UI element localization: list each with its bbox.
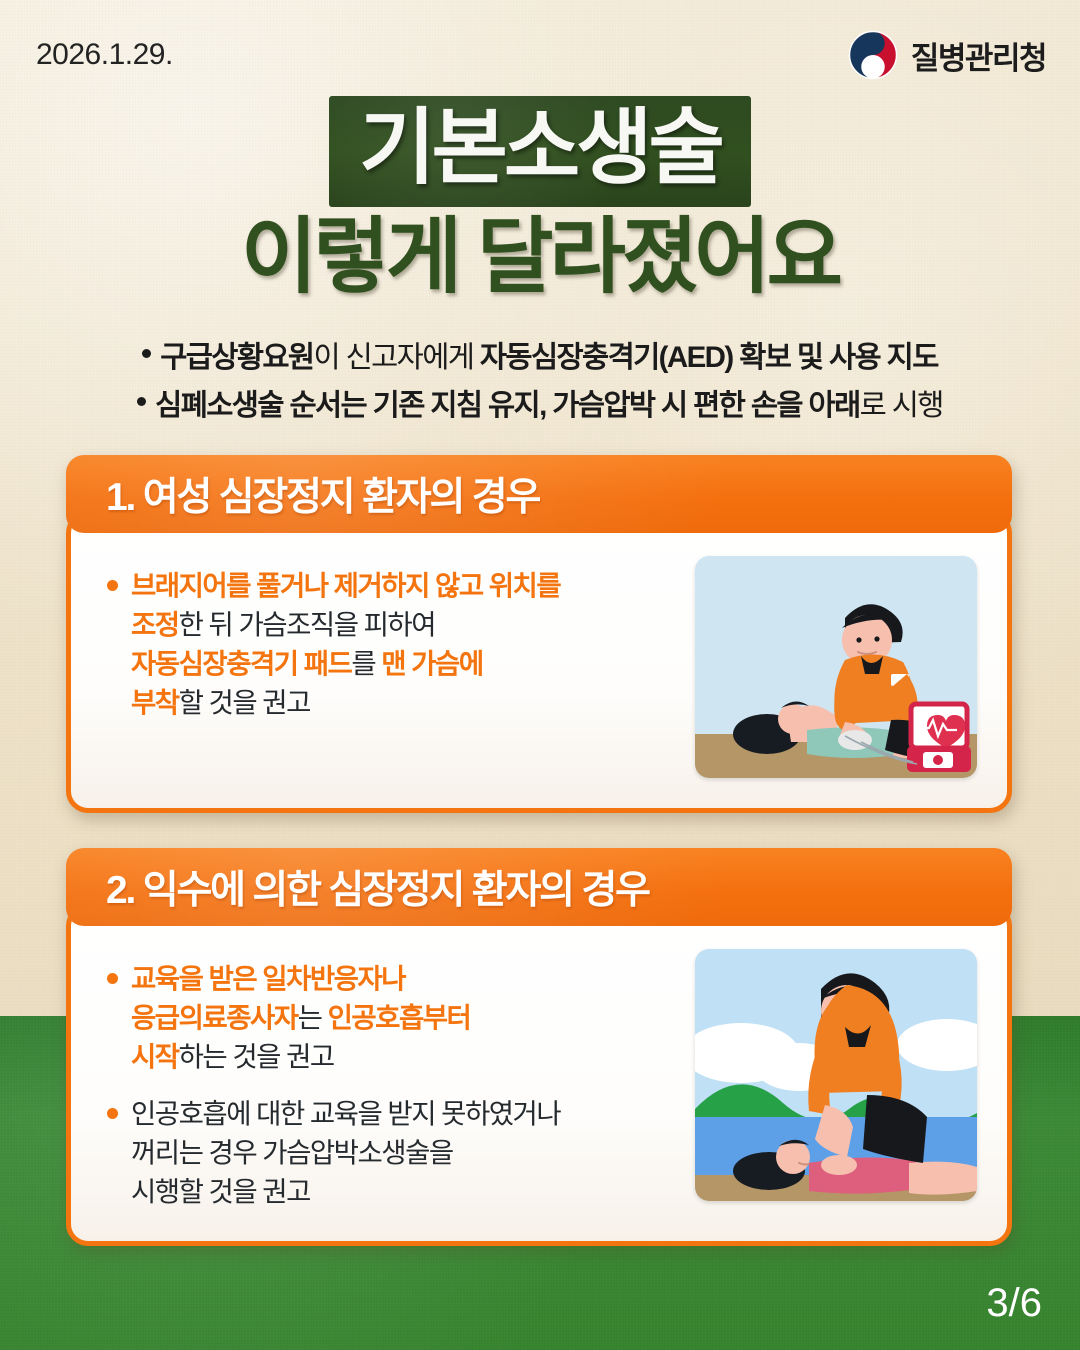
bullet-dot-icon (107, 1108, 118, 1119)
page-indicator: 3/6 (986, 1281, 1042, 1326)
agency-name: 질병관리청 (911, 33, 1046, 78)
section-2-body: 교육을 받은 일차반응자나응급의료종사자는 인공호흡부터시작하는 것을 권고 인… (66, 904, 1012, 1246)
section-1-header: 1. 여성 심장정지 환자의 경우 (66, 455, 1012, 533)
lead-bullet-dot-icon (137, 397, 146, 406)
section-2-bullet-1-text: 교육을 받은 일차반응자나응급의료종사자는 인공호흡부터시작하는 것을 권고 (131, 959, 470, 1076)
drowning-cpr-illustration (695, 949, 977, 1201)
section-1-bullet-1-text: 브래지어를 풀거나 제거하지 않고 위치를조정한 뒤 가슴조직을 피하여자동심장… (131, 566, 560, 722)
bullet-dot-icon (107, 973, 118, 984)
section-1-title: 1. 여성 심장정지 환자의 경우 (106, 466, 539, 522)
bullet-dot-icon (107, 580, 118, 591)
title-highlight-box: 기본소생술 (329, 96, 751, 207)
section-card-1: 1. 여성 심장정지 환자의 경우 브래지어를 풀거나 제거하지 않고 위치를조… (66, 455, 1012, 813)
section-2-bullet-2: 인공호흡에 대한 교육을 받지 못하였거나꺼리는 경우 가슴압박소생술을시행할 … (107, 1094, 677, 1211)
section-card-2: 2. 익수에 의한 심장정지 환자의 경우 교육을 받은 일차반응자나응급의료종… (66, 848, 1012, 1246)
infographic-page: 2026.1.29. 질병관리청 기본소생술 이렇게 달라졌어요 구급상황요원이… (0, 0, 1080, 1350)
section-2-bullet-2-text: 인공호흡에 대한 교육을 받지 못하였거나꺼리는 경우 가슴압박소생술을시행할 … (131, 1094, 560, 1211)
section-1-bullet-1: 브래지어를 풀거나 제거하지 않고 위치를조정한 뒤 가슴조직을 피하여자동심장… (107, 566, 677, 722)
lead-bullet-dot-icon (142, 349, 151, 358)
taegeuk-logo-icon (848, 30, 898, 80)
agency-brand: 질병관리청 (848, 30, 1046, 80)
lead-bullet-1: 구급상황요원이 신고자에게 자동심장충격기(AED) 확보 및 사용 지도 (0, 334, 1080, 382)
title-subtitle: 이렇게 달라졌어요 (0, 211, 1080, 302)
section-2-title: 2. 익수에 의한 심장정지 환자의 경우 (106, 859, 649, 915)
cpr-with-aed-illustration (695, 556, 977, 778)
section-2-header: 2. 익수에 의한 심장정지 환자의 경우 (66, 848, 1012, 926)
lead-bullet-list: 구급상황요원이 신고자에게 자동심장충격기(AED) 확보 및 사용 지도 심폐… (0, 334, 1080, 430)
title-highlight: 기본소생술 (359, 102, 721, 195)
section-1-body: 브래지어를 풀거나 제거하지 않고 위치를조정한 뒤 가슴조직을 피하여자동심장… (66, 511, 1012, 813)
title-block: 기본소생술 이렇게 달라졌어요 (0, 96, 1080, 302)
publication-date: 2026.1.29. (36, 38, 173, 72)
section-2-text: 교육을 받은 일차반응자나응급의료종사자는 인공호흡부터시작하는 것을 권고 인… (107, 953, 677, 1211)
section-2-bullet-1: 교육을 받은 일차반응자나응급의료종사자는 인공호흡부터시작하는 것을 권고 (107, 959, 677, 1076)
section-1-text: 브래지어를 풀거나 제거하지 않고 위치를조정한 뒤 가슴조직을 피하여자동심장… (107, 560, 677, 722)
lead-bullet-2: 심폐소생술 순서는 기존 지침 유지, 가슴압박 시 편한 손을 아래로 시행 (0, 382, 1080, 430)
